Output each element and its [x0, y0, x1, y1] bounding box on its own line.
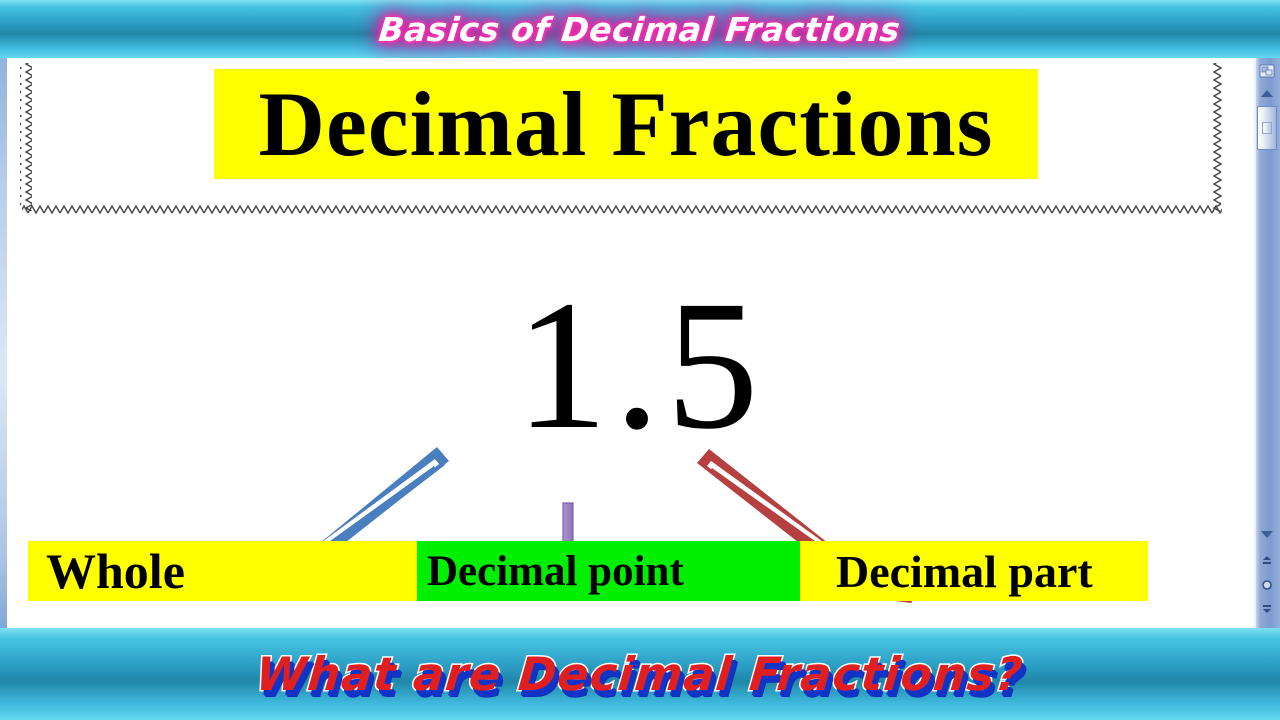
- previous-page-icon[interactable]: [1257, 550, 1277, 572]
- scrollbar-thumb[interactable]: [1257, 106, 1277, 150]
- top-title-banner: Basics of Decimal Fractions: [0, 0, 1280, 58]
- scroll-up-icon[interactable]: [1257, 84, 1277, 104]
- label-decimal-part: Decimal part: [800, 541, 1148, 601]
- select-browse-object-icon[interactable]: [1257, 60, 1277, 82]
- next-page-glyph: [1260, 602, 1274, 616]
- label-decimal-part-text: Decimal part: [836, 545, 1093, 598]
- scrollbar-thumb-grip: [1262, 122, 1272, 134]
- label-decimal-point: Decimal point: [417, 541, 800, 601]
- label-whole: Whole: [28, 541, 417, 601]
- select-browse-glyph: [1261, 579, 1273, 591]
- page-title: Decimal Fractions: [214, 69, 1038, 179]
- browse-object-glyph: [1259, 63, 1275, 79]
- decimal-parts-label-bar: Whole Decimal point Decimal part: [28, 541, 1148, 601]
- next-page-icon[interactable]: [1257, 598, 1277, 620]
- document-page: Decimal Fractions 1.5: [0, 58, 1280, 628]
- scroll-up-glyph: [1260, 89, 1274, 99]
- vertical-scrollbar[interactable]: [1252, 58, 1280, 628]
- label-decimal-point-text: Decimal point: [427, 547, 684, 596]
- decimal-number: 1.5: [0, 273, 1280, 458]
- select-browse-icon[interactable]: [1257, 574, 1277, 596]
- top-banner-title: Basics of Decimal Fractions: [377, 10, 902, 49]
- scroll-down-glyph: [1260, 529, 1274, 539]
- label-whole-text: Whole: [46, 542, 185, 600]
- bottom-banner-title: What are Decimal Fractions?: [254, 647, 1026, 701]
- scroll-down-icon[interactable]: [1257, 524, 1277, 544]
- previous-page-glyph: [1260, 554, 1274, 568]
- bottom-caption-banner: What are Decimal Fractions?: [0, 628, 1280, 720]
